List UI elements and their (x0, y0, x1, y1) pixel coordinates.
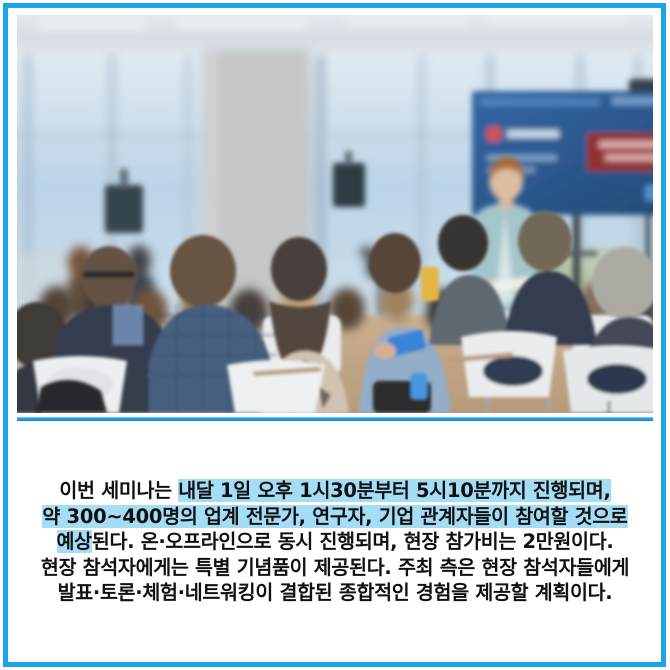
caption-segment: 발표·토론·체험·네트워킹이 결합된 종합적인 경험을 제공할 계획이다. (58, 581, 613, 604)
caption-line: 약 300~400명의 업계 전문가, 연구자, 기업 관계자들이 참여할 것으… (17, 504, 653, 530)
caption-segment: 된다. 온·오프라인으로 동시 진행되며, 현장 참가비는 2만원이다. (92, 530, 614, 553)
caption-segment: 현장 참석자에게는 특별 기념품이 제공된다. 주최 측은 현장 참석자들에게 (41, 556, 629, 579)
seminar-audience-photo (17, 15, 653, 413)
caption-segment-highlighted: 예상 (57, 530, 92, 553)
photo-illustration (17, 15, 653, 413)
page-root: 이번 세미나는 내달 1일 오후 1시30분부터 5시10분까지 진행되며, 약… (0, 0, 670, 670)
frame-border-top (3, 3, 666, 8)
caption-text-block: 이번 세미나는 내달 1일 오후 1시30분부터 5시10분까지 진행되며, 약… (17, 478, 653, 606)
caption-line: 이번 세미나는 내달 1일 오후 1시30분부터 5시10분까지 진행되며, (17, 478, 653, 504)
caption-segment: 이번 세미나는 (59, 479, 178, 502)
caption-line: 발표·토론·체험·네트워킹이 결합된 종합적인 경험을 제공할 계획이다. (17, 580, 653, 606)
caption-line: 현장 참석자에게는 특별 기념품이 제공된다. 주최 측은 현장 참석자들에게 (17, 555, 653, 581)
frame-border-right (661, 3, 666, 667)
caption-line: 예상된다. 온·오프라인으로 동시 진행되며, 현장 참가비는 2만원이다. (17, 529, 653, 555)
caption-segment-highlighted: 내달 1일 오후 1시30분부터 5시10분까지 진행되며, (178, 479, 610, 502)
caption-segment-highlighted: 약 300~400명의 업계 전문가, 연구자, 기업 관계자들이 참여할 것으… (42, 505, 627, 528)
frame-border-left (3, 3, 8, 667)
frame-border-bottom (3, 662, 666, 667)
photo-caption-divider (17, 417, 653, 421)
